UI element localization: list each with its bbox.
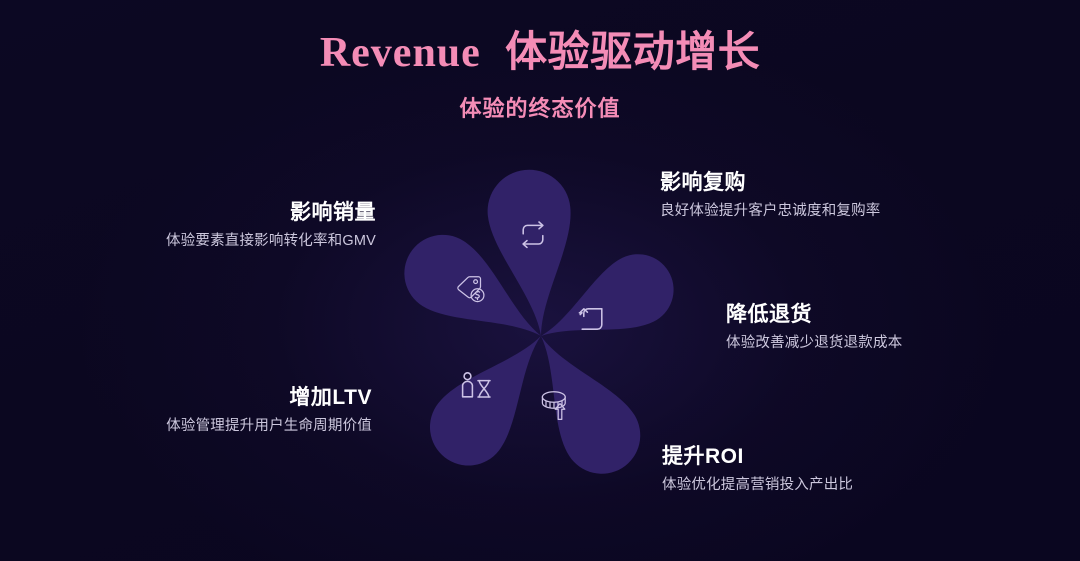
callout-returns: 降低退货 体验改善减少退货退款成本: [726, 302, 902, 354]
slide-canvas: Revenue 体验驱动增长 体验的终态价值: [0, 0, 1080, 561]
petal-diagram: [355, 150, 727, 522]
page-title-en: Revenue: [320, 30, 481, 76]
callout-returns-title: 降低退货: [726, 302, 902, 328]
petal-roi[interactable]: [507, 316, 654, 488]
petal-ltv[interactable]: [414, 312, 570, 481]
page-title-spacer: [481, 28, 505, 75]
page-subtitle: 体验的终态价值: [0, 91, 1080, 123]
page-title-cn: 体验驱动增长: [505, 28, 760, 75]
callout-sales-title: 影响销量: [166, 200, 376, 226]
callout-ltv-desc: 体验管理提升用户生命周期价值: [166, 417, 372, 437]
page-title: Revenue 体验驱动增长: [0, 28, 1080, 77]
title-block: Revenue 体验驱动增长 体验的终态价值: [0, 28, 1080, 123]
callout-sales-desc: 体验要素直接影响转化率和GMV: [166, 232, 376, 252]
callout-sales: 影响销量 体验要素直接影响转化率和GMV: [166, 200, 376, 252]
callout-ltv: 增加LTV 体验管理提升用户生命周期价值: [166, 385, 372, 437]
callout-ltv-title: 增加LTV: [166, 385, 372, 411]
callout-returns-desc: 体验改善减少退货退款成本: [726, 334, 902, 354]
